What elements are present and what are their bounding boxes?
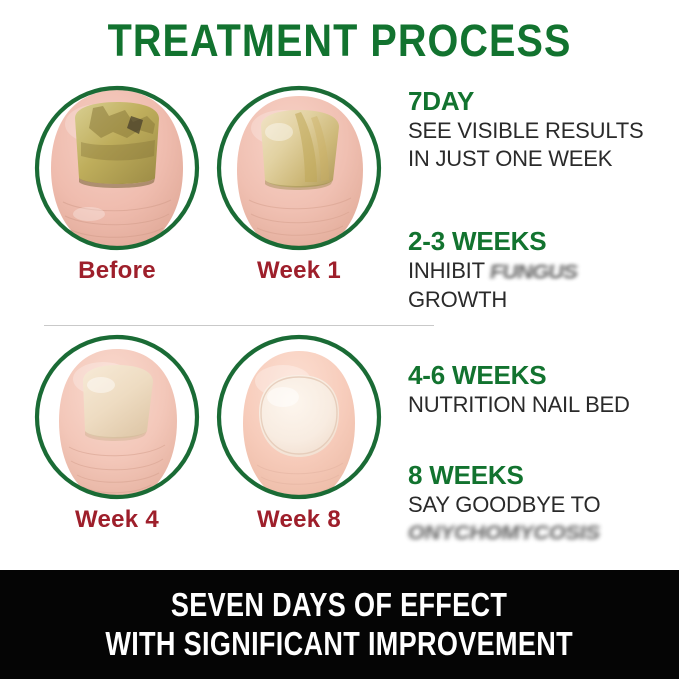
banner-line-2: WITH SIGNIFICANT IMPROVEMENT — [106, 625, 574, 663]
stage-body-line: SAY GOODBYE TO — [408, 491, 670, 520]
stage-body: INHIBIT FUNGUS GROWTH — [408, 257, 670, 315]
progress-photo-week-4: Week 4 — [24, 331, 210, 563]
stage-body-text: INHIBIT — [408, 258, 484, 283]
stage-body: SEE VISIBLE RESULTS IN JUST ONE WEEK — [408, 117, 670, 174]
progress-photo-week-1: Week 1 — [206, 82, 392, 314]
stage-item-4-6-weeks: 4-6 WEEKS NUTRITION NAIL BED — [408, 360, 670, 419]
progress-photo-label: Before — [24, 258, 210, 284]
stage-heading: 8 WEEKS — [408, 460, 670, 491]
row-divider — [44, 325, 434, 326]
treatment-process-content: Before — [0, 78, 679, 565]
progress-photo-grid: Before — [18, 78, 400, 565]
censored-word: FUNGUS — [489, 259, 579, 285]
progress-photo-label: Week 8 — [206, 507, 392, 533]
stage-heading: 2-3 WEEKS — [408, 226, 670, 257]
progress-photo-label: Week 4 — [24, 507, 210, 533]
page-title: TREATMENT PROCESS — [41, 18, 639, 63]
bottom-banner: SEVEN DAYS OF EFFECT WITH SIGNIFICANT IM… — [0, 570, 679, 679]
stage-body-line: INHIBIT FUNGUS — [408, 257, 670, 287]
toenail-photo-week-1-icon — [213, 82, 385, 254]
banner-line-1: SEVEN DAYS OF EFFECT — [171, 586, 507, 624]
stage-heading: 7DAY — [408, 86, 670, 117]
stage-heading: 4-6 WEEKS — [408, 360, 670, 391]
stage-item-7day: 7DAY SEE VISIBLE RESULTS IN JUST ONE WEE… — [408, 86, 670, 174]
toenail-photo-week-8-icon — [213, 331, 385, 503]
stage-body-line: IN JUST ONE WEEK — [408, 145, 670, 174]
progress-photo-label: Week 1 — [206, 258, 392, 284]
stage-body-line: GROWTH — [408, 286, 670, 315]
stage-body: SAY GOODBYE TO ONYCHOMYCOSIS — [408, 491, 670, 548]
stage-list: 7DAY SEE VISIBLE RESULTS IN JUST ONE WEE… — [408, 78, 670, 565]
stage-item-8-weeks: 8 WEEKS SAY GOODBYE TO ONYCHOMYCOSIS — [408, 460, 670, 548]
stage-body: NUTRITION NAIL BED — [408, 391, 670, 420]
toenail-photo-week-4-icon — [31, 331, 203, 503]
censored-word: ONYCHOMYCOSIS — [406, 521, 671, 547]
stage-item-2-3-weeks: 2-3 WEEKS INHIBIT FUNGUS GROWTH — [408, 226, 670, 315]
progress-photo-week-8: Week 8 — [206, 331, 392, 563]
toenail-photo-before-icon — [31, 82, 203, 254]
stage-body-line: NUTRITION NAIL BED — [408, 391, 670, 420]
progress-photo-before: Before — [24, 82, 210, 314]
stage-body-line: SEE VISIBLE RESULTS — [408, 117, 670, 146]
